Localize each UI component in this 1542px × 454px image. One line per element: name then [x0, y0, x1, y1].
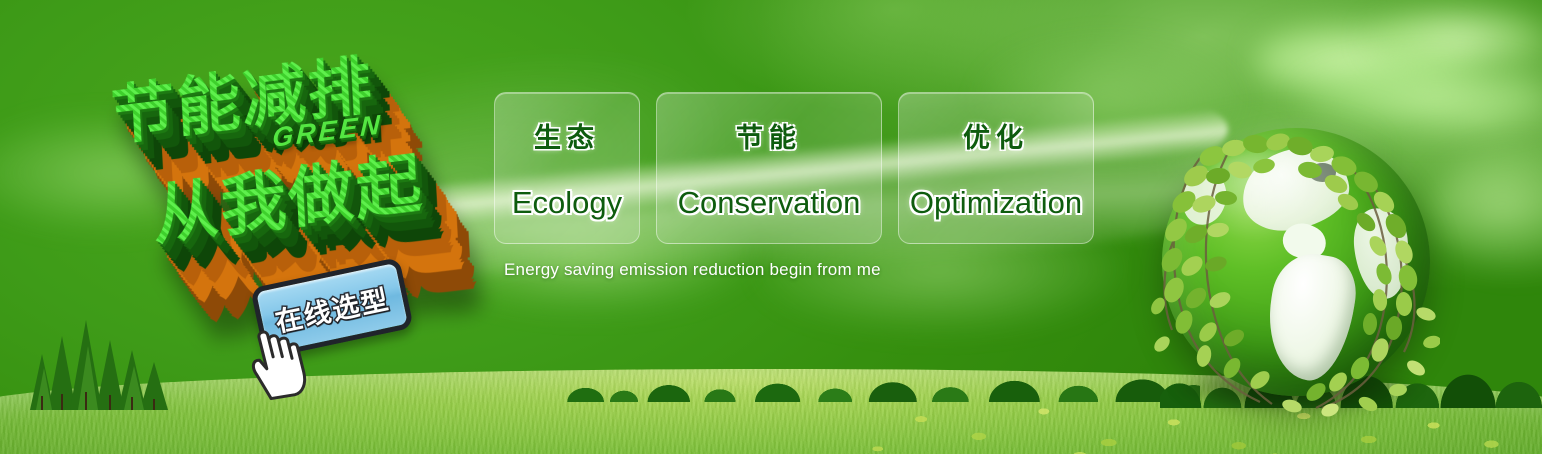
cloud-icon: [1365, 4, 1542, 74]
cloud-icon: [1255, 18, 1485, 102]
headline-line-2: 从我做起: [150, 129, 425, 258]
continent-africa: [1350, 206, 1413, 302]
globe-highlight: [1200, 149, 1339, 240]
feature-card-list: 生态 Ecology 节能 Conservation 优化 Optimizati…: [494, 92, 1094, 244]
feature-card-en-label: Optimization: [910, 185, 1082, 221]
headline-artwork: 节能减排 GREEN 从我做起: [104, 42, 484, 262]
feature-card-conservation[interactable]: 节能 Conservation: [656, 92, 882, 244]
feature-card-en-label: Ecology: [512, 185, 622, 221]
feature-card-ecology[interactable]: 生态 Ecology: [494, 92, 640, 244]
banner-tagline: Energy saving emission reduction begin f…: [504, 260, 881, 280]
green-energy-banner: 节能减排 GREEN 从我做起 在线选型: [0, 0, 1542, 454]
feature-card-cn-label: 生态: [534, 116, 600, 155]
leafy-globe-icon: [1140, 118, 1440, 418]
cloud-icon: [1430, 150, 1542, 270]
feature-card-en-label: Conservation: [678, 185, 861, 221]
feature-card-optimization[interactable]: 优化 Optimization: [898, 92, 1094, 244]
globe-sphere: [1162, 128, 1430, 396]
feature-card-cn-label: 节能: [736, 116, 802, 155]
headline-line-2-text: 从我做起: [151, 145, 425, 252]
feature-card-cn-label: 优化: [963, 116, 1029, 155]
continent-south-america: [1260, 248, 1362, 385]
hand-pointer-icon: [236, 318, 318, 402]
